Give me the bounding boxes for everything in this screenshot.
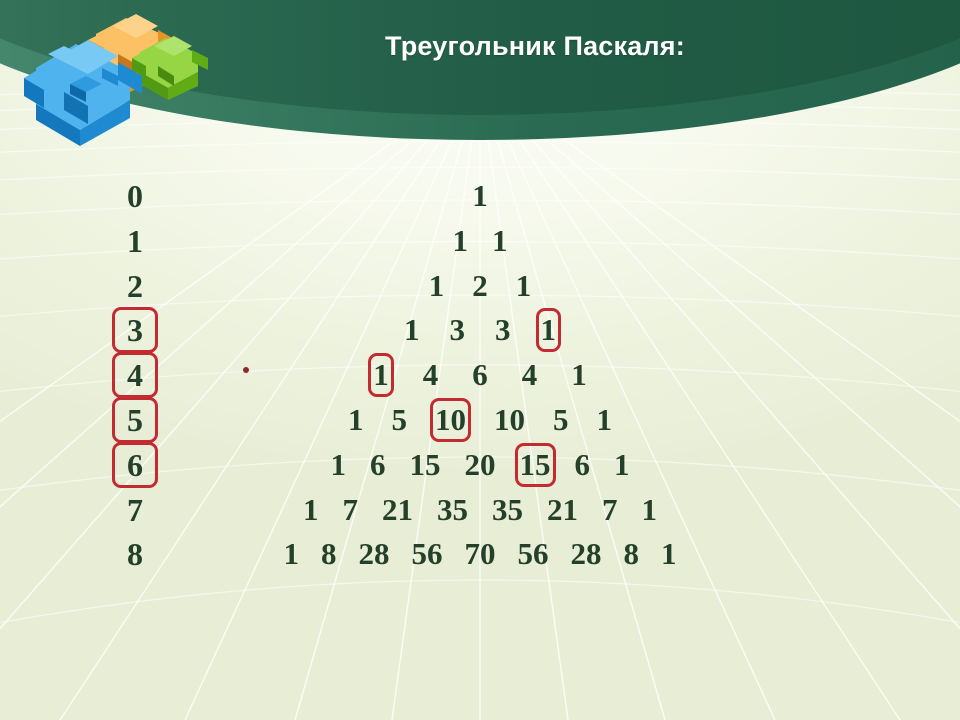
triangle-row: 414641 bbox=[0, 351, 960, 399]
triangle-row: 7172135352171 bbox=[0, 486, 960, 534]
triangle-cell: 1 bbox=[511, 264, 537, 308]
triangle-cell: 1 bbox=[656, 532, 682, 576]
triangle-row: 818285670562881 bbox=[0, 530, 960, 578]
triangle-cell: 1 bbox=[637, 488, 663, 532]
triangle-row: 31331 bbox=[0, 306, 960, 354]
triangle-cell: 7 bbox=[597, 488, 623, 532]
pascal-triangle: 0111121213133141464151510105161615201561… bbox=[0, 0, 960, 720]
triangle-cell: 1 bbox=[448, 219, 474, 263]
triangle-row-values: 15101051 bbox=[0, 398, 960, 442]
triangle-cell: 1 bbox=[343, 398, 369, 442]
triangle-cell: 6 bbox=[365, 443, 391, 487]
triangle-cell: 1 bbox=[424, 264, 450, 308]
triangle-cell: 5 bbox=[387, 398, 413, 442]
triangle-cell: 1 bbox=[368, 353, 394, 397]
triangle-row: 61615201561 bbox=[0, 441, 960, 489]
triangle-row: 2121 bbox=[0, 262, 960, 310]
triangle-cell: 21 bbox=[377, 488, 418, 532]
triangle-cell: 3 bbox=[445, 308, 471, 352]
triangle-cell: 1 bbox=[609, 443, 635, 487]
triangle-row-values: 18285670562881 bbox=[0, 532, 960, 576]
triangle-cell: 21 bbox=[542, 488, 583, 532]
triangle-cell: 8 bbox=[619, 532, 645, 576]
triangle-row-values: 172135352171 bbox=[0, 488, 960, 532]
triangle-cell: 4 bbox=[418, 353, 444, 397]
triangle-cell: 56 bbox=[407, 532, 448, 576]
triangle-row-values: 1615201561 bbox=[0, 443, 960, 487]
triangle-cell: 8 bbox=[316, 532, 342, 576]
triangle-cell: 15 bbox=[515, 443, 556, 487]
triangle-cell: 4 bbox=[517, 353, 543, 397]
triangle-cell: 20 bbox=[460, 443, 501, 487]
triangle-cell: 6 bbox=[467, 353, 493, 397]
triangle-cell: 7 bbox=[338, 488, 364, 532]
triangle-row-values: 121 bbox=[0, 264, 960, 308]
triangle-cell: 1 bbox=[536, 308, 562, 352]
triangle-cell: 10 bbox=[489, 398, 530, 442]
triangle-cell: 3 bbox=[490, 308, 516, 352]
triangle-cell: 28 bbox=[566, 532, 607, 576]
triangle-row: 111 bbox=[0, 217, 960, 265]
triangle-cell: 1 bbox=[467, 174, 493, 218]
triangle-row-values: 1331 bbox=[0, 308, 960, 352]
triangle-cell: 70 bbox=[460, 532, 501, 576]
slide-canvas: Треугольник Паскаля: bbox=[0, 0, 960, 720]
triangle-row: 515101051 bbox=[0, 396, 960, 444]
triangle-cell: 1 bbox=[487, 219, 513, 263]
triangle-cell: 35 bbox=[487, 488, 528, 532]
triangle-row-values: 14641 bbox=[0, 353, 960, 397]
triangle-cell: 1 bbox=[566, 353, 592, 397]
triangle-cell: 56 bbox=[513, 532, 554, 576]
triangle-cell: 2 bbox=[467, 264, 493, 308]
triangle-cell: 1 bbox=[399, 308, 425, 352]
triangle-cell: 5 bbox=[548, 398, 574, 442]
stray-mark bbox=[243, 367, 249, 373]
triangle-cell: 6 bbox=[570, 443, 596, 487]
triangle-cell: 28 bbox=[354, 532, 395, 576]
triangle-row-values: 1 bbox=[0, 174, 960, 218]
triangle-cell: 15 bbox=[405, 443, 446, 487]
triangle-cell: 1 bbox=[279, 532, 305, 576]
triangle-cell: 35 bbox=[432, 488, 473, 532]
triangle-row: 01 bbox=[0, 172, 960, 220]
triangle-cell: 1 bbox=[326, 443, 352, 487]
triangle-cell: 1 bbox=[298, 488, 324, 532]
triangle-cell: 1 bbox=[592, 398, 618, 442]
triangle-cell: 10 bbox=[430, 398, 471, 442]
triangle-row-values: 11 bbox=[0, 219, 960, 263]
